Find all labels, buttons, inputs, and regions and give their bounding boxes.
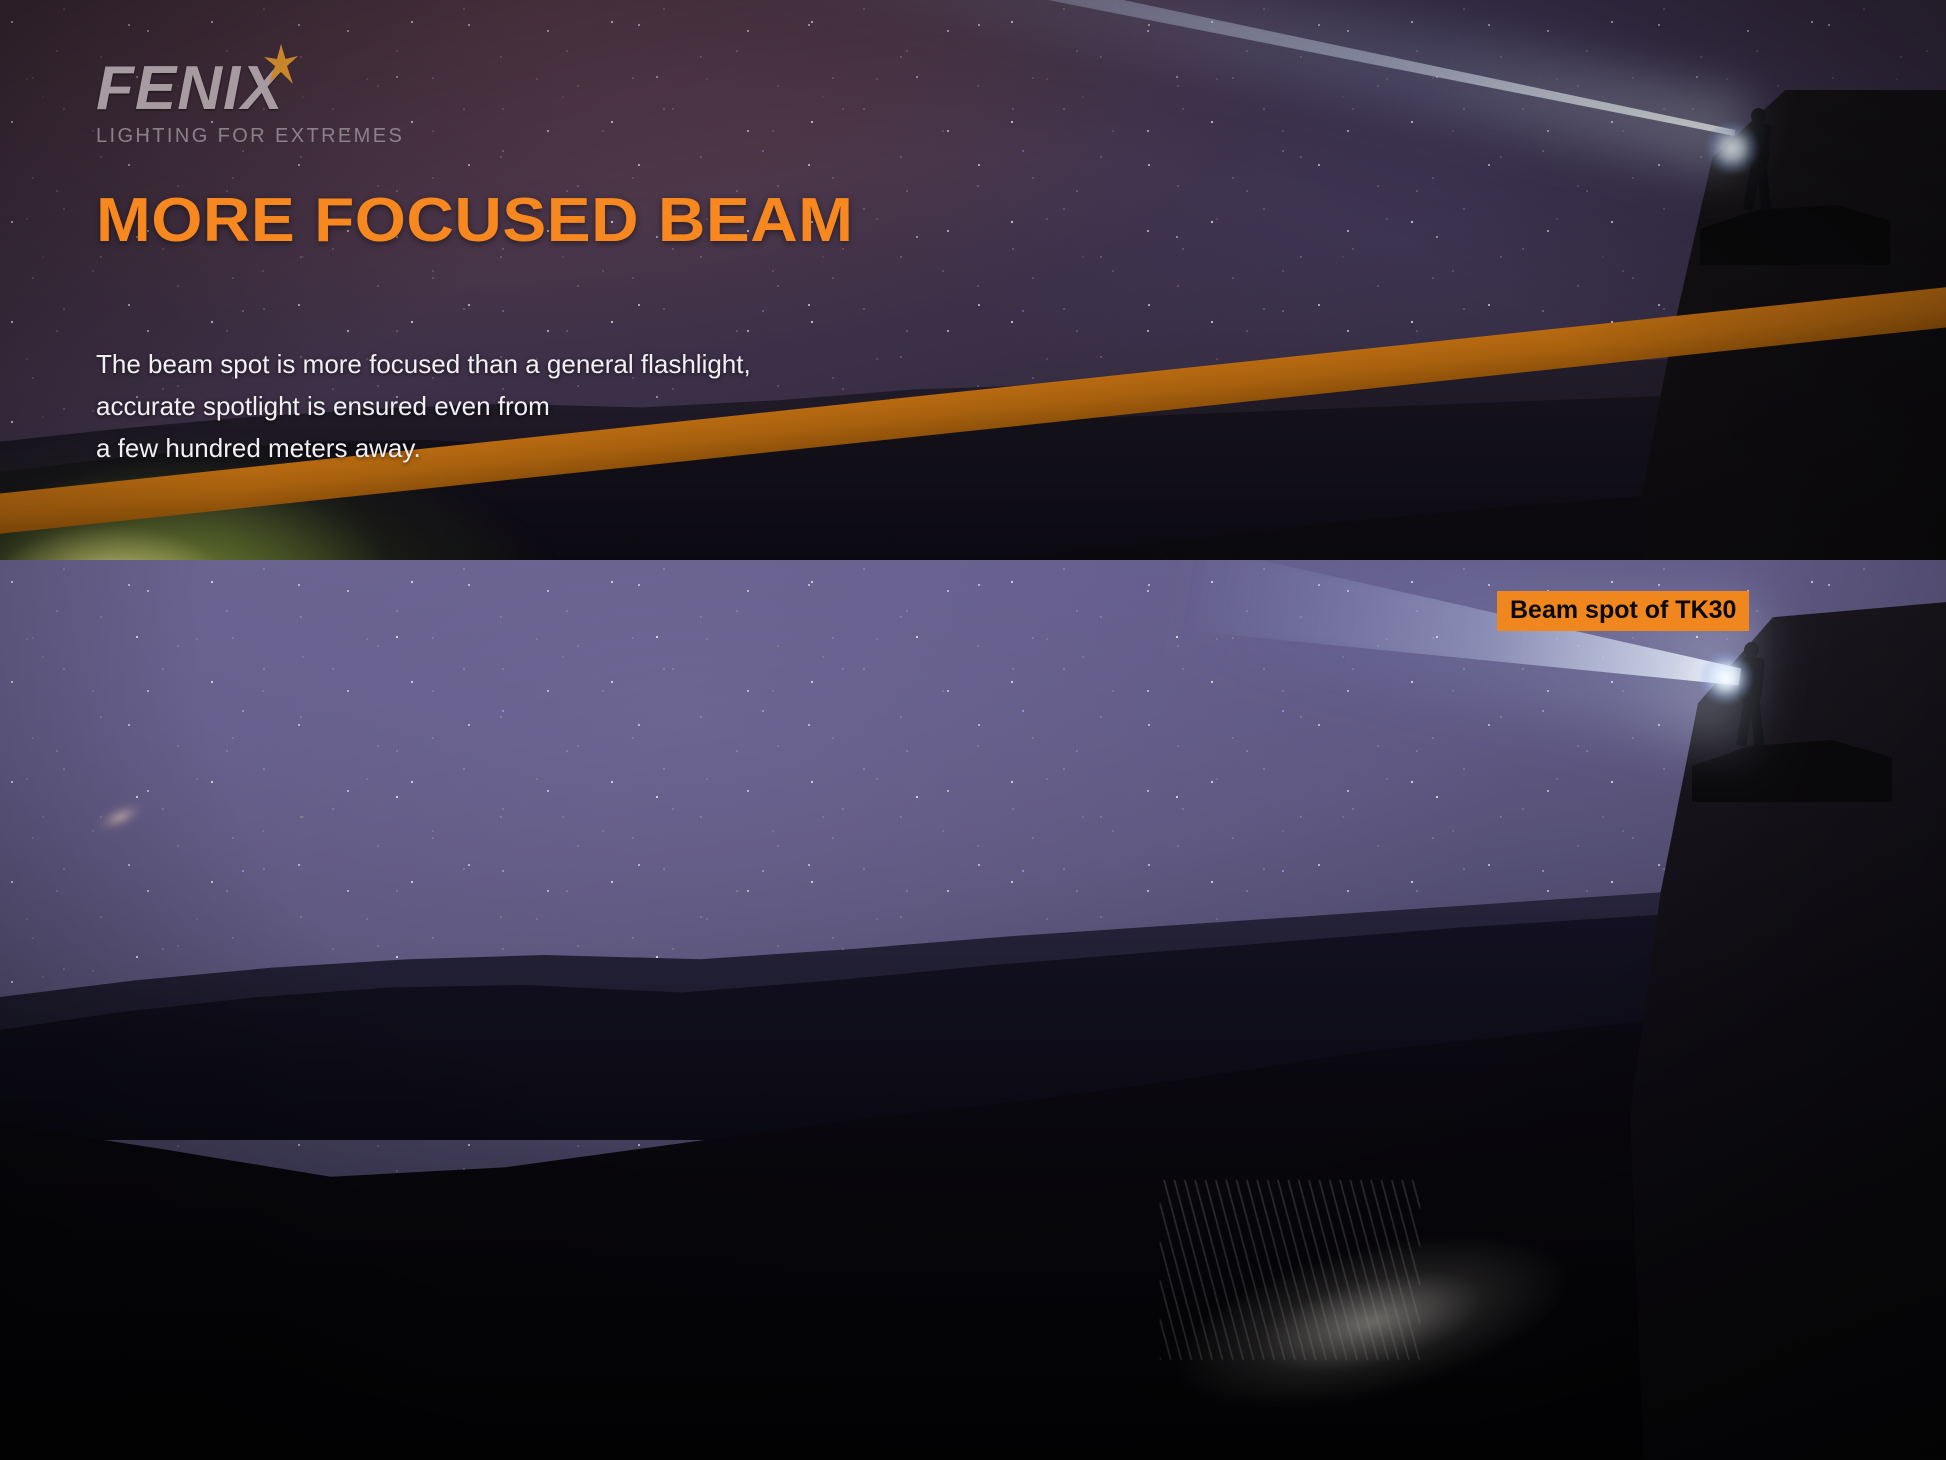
page-title: MORE FOCUSED BEAM [96, 188, 854, 253]
promo-banner: Beam spot of TK30 Beam spot of a genera [0, 0, 1946, 1460]
fenix-tagline: LIGHTING FOR EXTREMES [96, 126, 404, 146]
beam-source-general [1700, 652, 1752, 704]
beam-source-tk30 [1706, 122, 1758, 174]
fenix-wordmark: FENIX [96, 58, 404, 120]
description-text: The beam spot is more focused than a gen… [96, 343, 751, 469]
star-icon [264, 44, 298, 84]
panel-general-flashlight: Beam spot of a general flashlight [0, 560, 1946, 1460]
callout-beam-spot-tk30: Beam spot of TK30 [1497, 591, 1749, 631]
grass-tufts-bottom [1160, 1180, 1420, 1360]
fenix-logo: FENIX LIGHTING FOR EXTREMES [96, 58, 404, 146]
description-line-2: accurate spotlight is ensured even from [96, 385, 751, 427]
description-line-3: a few hundred meters away. [96, 427, 751, 469]
description-line-1: The beam spot is more focused than a gen… [96, 343, 751, 385]
